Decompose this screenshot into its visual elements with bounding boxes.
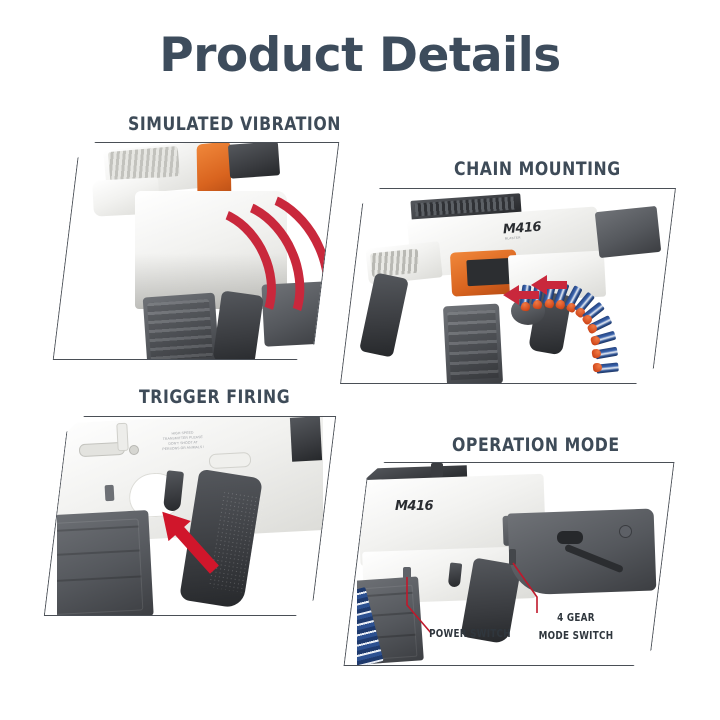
- rear-sight-block: [228, 143, 280, 179]
- callout-power-switch: POWER SWITCH: [425, 628, 514, 640]
- panel-simulated-vibration: [53, 142, 340, 360]
- section-label-simulated-vibration: SIMULATED VIBRATION: [128, 113, 341, 135]
- panel-trigger-firing: HIGH SPEED TRANSMITTER PLEASE DON'T SHOO…: [44, 416, 337, 616]
- panel-chain-mounting: M416 BLASTER: [340, 188, 676, 384]
- vibration-illustration: [67, 143, 325, 359]
- infographic-stage: Product Details SIMULATED VIBRATION: [0, 0, 720, 720]
- section-label-trigger-firing: TRIGGER FIRING: [139, 386, 290, 408]
- rail-ridges: [108, 146, 180, 182]
- page-title: Product Details: [0, 28, 720, 83]
- section-label-operation-mode: OPERATION MODE: [452, 434, 620, 456]
- callout-mode-switch-line2: MODE SWITCH: [531, 630, 620, 642]
- section-label-chain-mounting: CHAIN MOUNTING: [454, 158, 621, 180]
- chain-mount-arrows: [353, 189, 663, 383]
- chain-mounting-illustration: M416 BLASTER: [353, 189, 663, 383]
- trigger-firing-illustration: HIGH SPEED TRANSMITTER PLEASE DON'T SHOO…: [57, 417, 323, 615]
- trigger-pointer-arrow: [57, 417, 323, 615]
- callout-mode-switch-line1: 4 GEAR: [531, 612, 620, 624]
